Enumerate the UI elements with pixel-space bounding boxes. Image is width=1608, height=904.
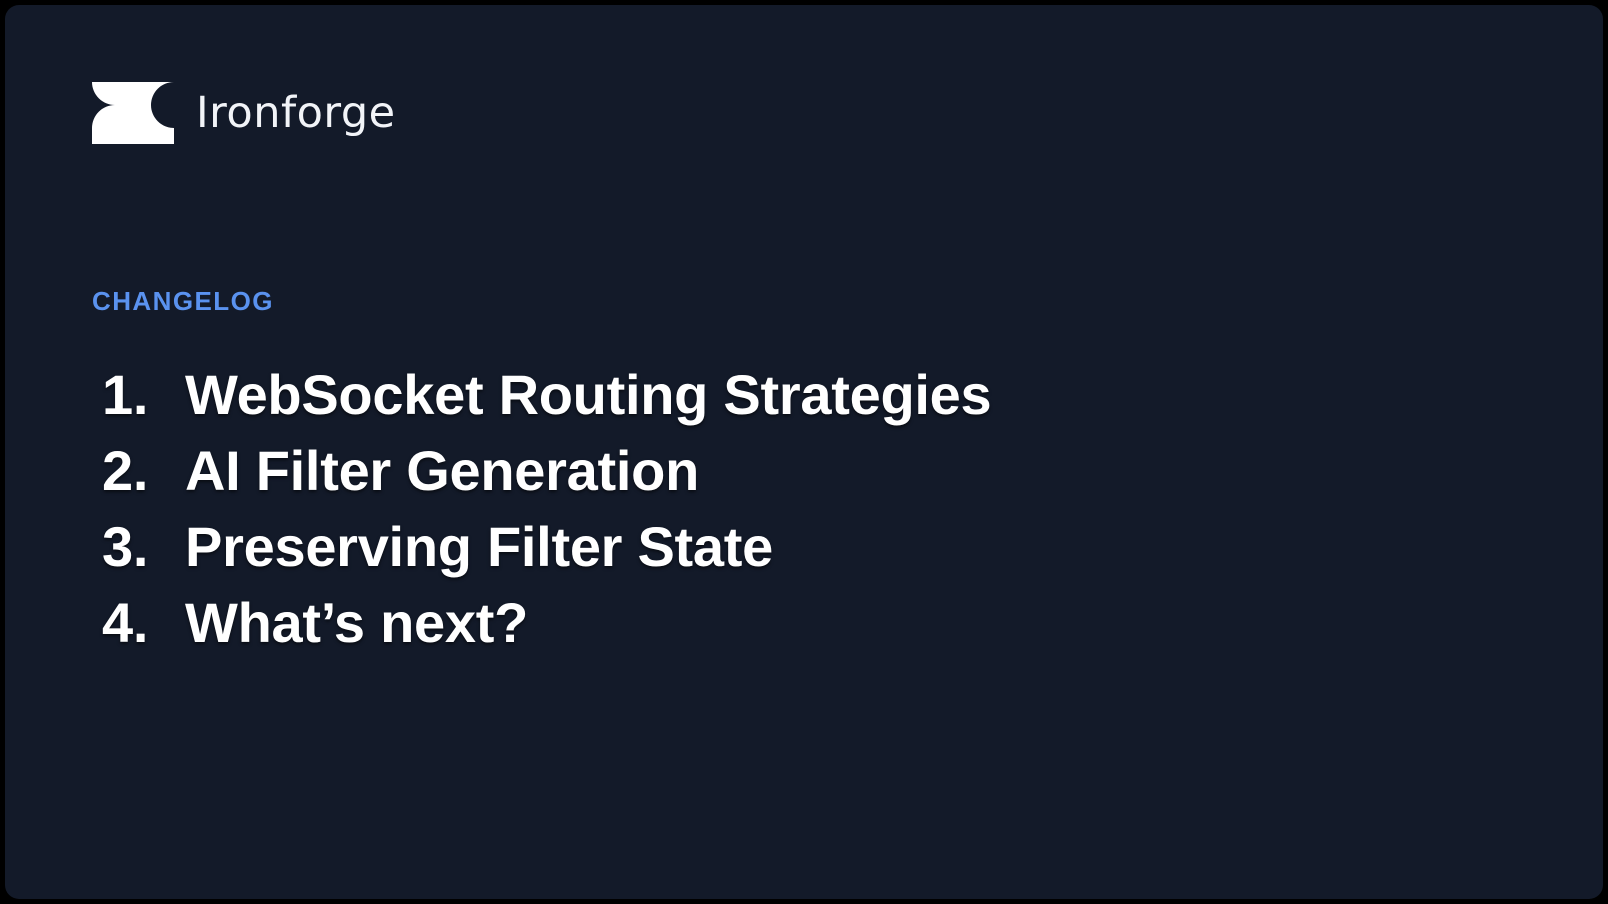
agenda-item-label: WebSocket Routing Strategies — [185, 357, 991, 433]
slide-canvas: Ironforge CHANGELOG 1. WebSocket Routing… — [5, 5, 1603, 899]
agenda-item-label: What’s next? — [185, 585, 528, 661]
agenda-item: 1. WebSocket Routing Strategies — [102, 357, 991, 433]
brand-lockup: Ironforge — [92, 75, 428, 151]
anvil-logo-mark-icon — [92, 82, 174, 144]
agenda-item-label: Preserving Filter State — [185, 509, 773, 585]
agenda-item: 4. What’s next? — [102, 585, 991, 661]
ironforge-wordmark: Ironforge — [196, 88, 428, 138]
agenda-item-index: 2. — [102, 433, 185, 509]
slide-frame: Ironforge CHANGELOG 1. WebSocket Routing… — [0, 0, 1608, 904]
agenda-item: 3. Preserving Filter State — [102, 509, 991, 585]
agenda-item-index: 3. — [102, 509, 185, 585]
agenda-item-index: 4. — [102, 585, 185, 661]
agenda-list: 1. WebSocket Routing Strategies 2. AI Fi… — [102, 357, 991, 661]
svg-text:Ironforge: Ironforge — [196, 88, 396, 138]
agenda-item-label: AI Filter Generation — [185, 433, 699, 509]
agenda-item-index: 1. — [102, 357, 185, 433]
agenda-item: 2. AI Filter Generation — [102, 433, 991, 509]
eyebrow-label: CHANGELOG — [92, 288, 274, 314]
